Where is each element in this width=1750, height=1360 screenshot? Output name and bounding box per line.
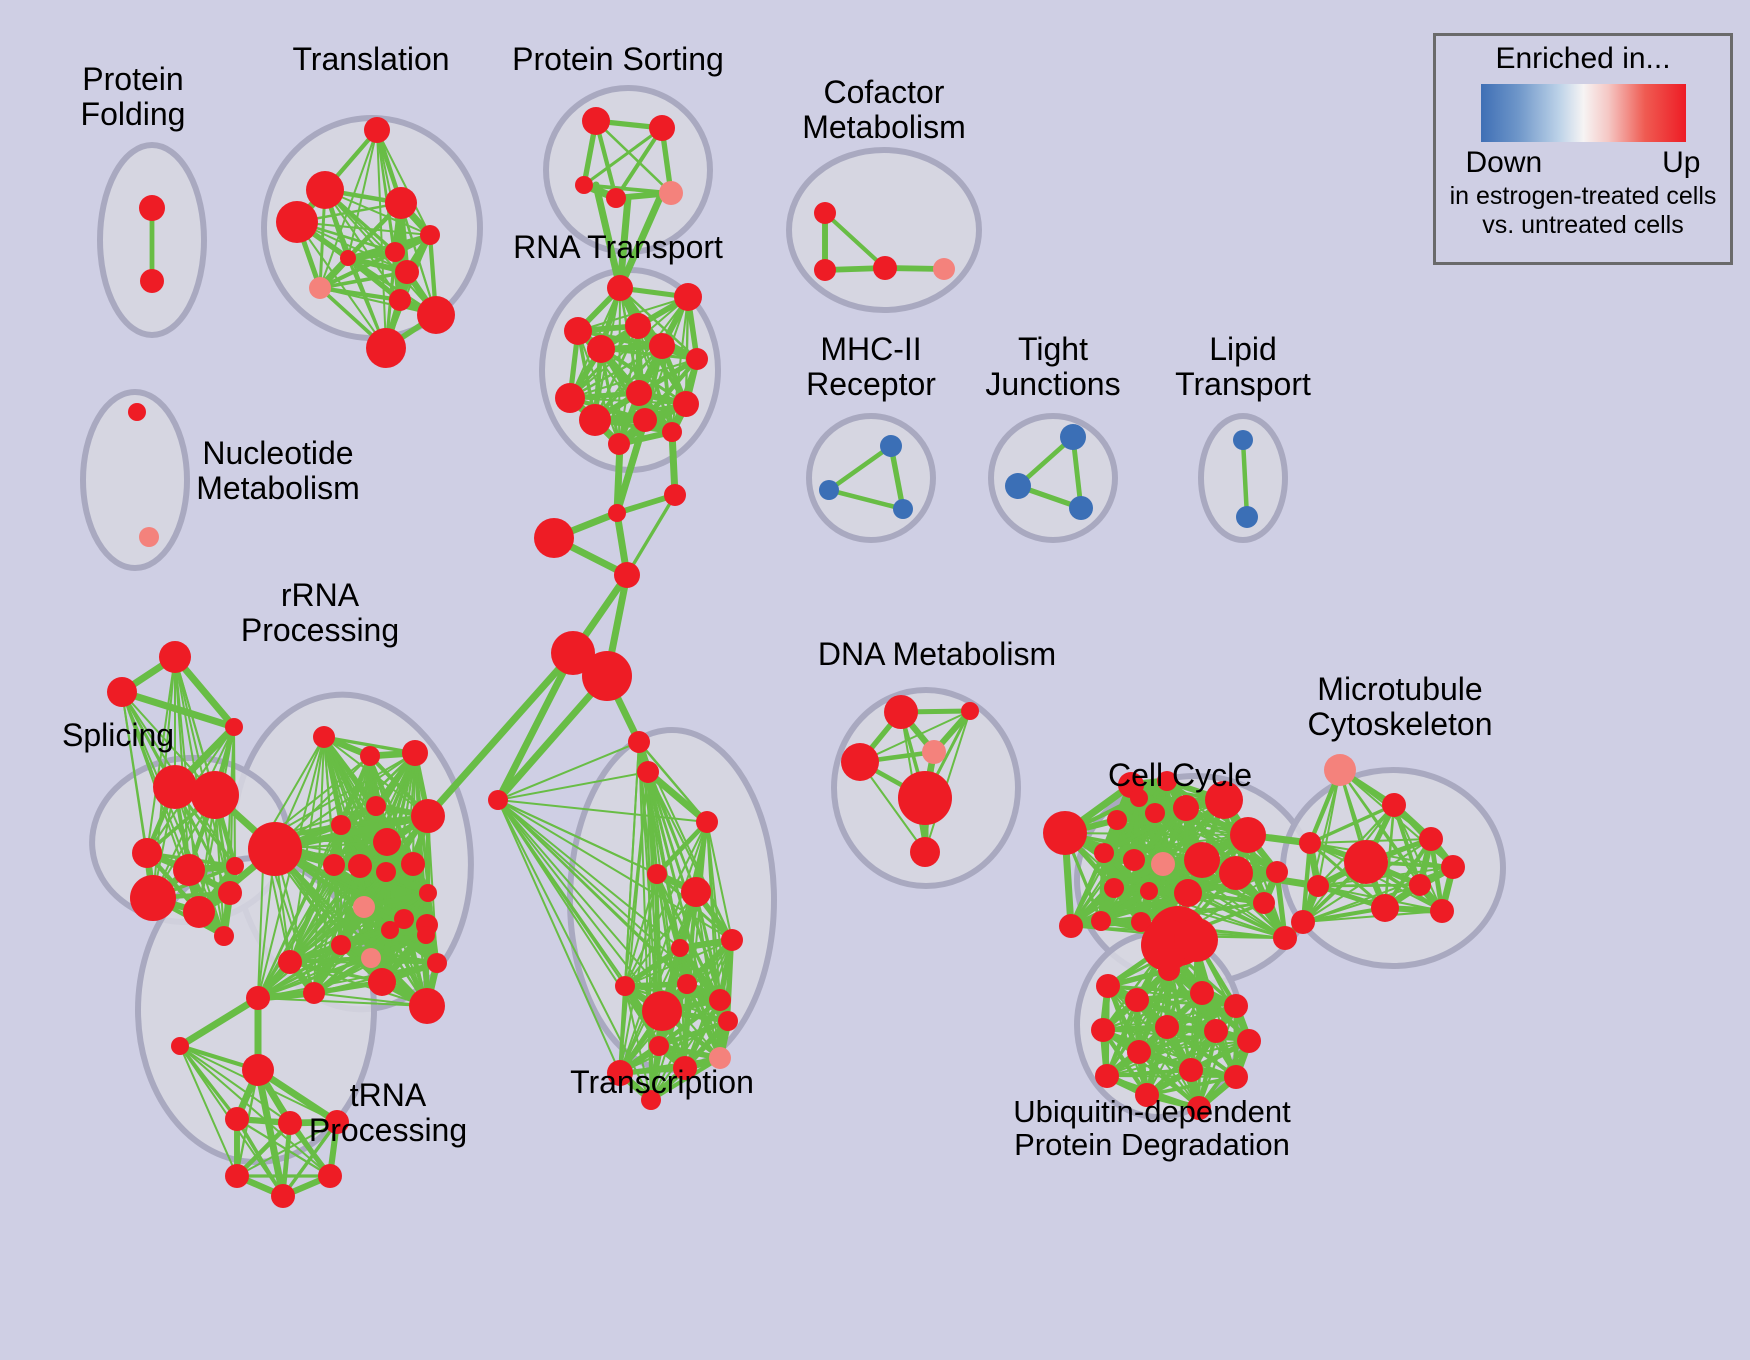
network-node[interactable] [159,641,191,673]
network-node[interactable] [922,740,946,764]
network-node[interactable] [130,875,176,921]
network-node[interactable] [615,976,635,996]
network-node[interactable] [420,225,440,245]
network-figure: Protein FoldingTranslationNucleotide Met… [0,0,1750,1360]
network-node[interactable] [385,187,417,219]
network-node[interactable] [140,269,164,293]
network-node[interactable] [1174,879,1202,907]
network-node[interactable] [555,383,585,413]
network-node[interactable] [225,1164,249,1188]
network-node[interactable] [681,877,711,907]
network-node[interactable] [306,171,344,209]
network-node[interactable] [366,328,406,368]
network-node[interactable] [173,854,205,886]
network-node[interactable] [607,275,633,301]
legend-subtitle-line1: in estrogen-treated cells [1450,182,1717,211]
network-node[interactable] [1005,473,1031,499]
network-node[interactable] [225,718,243,736]
network-node[interactable] [132,838,162,868]
network-node[interactable] [153,765,197,809]
network-node[interactable] [1174,918,1218,962]
cluster-label-protein_sorting: Protein Sorting [512,42,724,77]
network-node[interactable] [1204,1019,1228,1043]
network-node[interactable] [1091,911,1111,931]
network-node[interactable] [721,929,743,951]
legend-title: Enriched in... [1495,42,1670,76]
network-node[interactable] [1043,811,1087,855]
network-node[interactable] [625,313,651,339]
network-node[interactable] [364,117,390,143]
network-node[interactable] [961,702,979,720]
cluster-label-dna_metabolism: DNA Metabolism [818,637,1056,672]
cluster-label-rna_transport: RNA Transport [513,230,723,265]
network-node[interactable] [313,726,335,748]
network-node[interactable] [608,433,630,455]
network-node[interactable] [1190,981,1214,1005]
network-node[interactable] [1382,793,1406,817]
network-node[interactable] [579,404,611,436]
network-node[interactable] [1299,832,1321,854]
network-node[interactable] [1091,1018,1115,1042]
legend-down-label: Down [1466,146,1543,180]
network-node[interactable] [1419,827,1443,851]
network-node[interactable] [1173,795,1199,821]
network-node[interactable] [606,188,626,208]
network-node[interactable] [303,982,325,1004]
network-node[interactable] [709,989,731,1011]
network-node[interactable] [385,242,405,262]
cluster-label-tight_junctions: Tight Junctions [985,332,1120,401]
network-node[interactable] [488,790,508,810]
cluster-label-mhc_ii_receptor: MHC-II Receptor [806,332,936,401]
cluster-label-transcription: Transcription [570,1065,754,1100]
network-node[interactable] [608,504,626,522]
network-node[interactable] [671,939,689,957]
network-node[interactable] [373,828,401,856]
network-node[interactable] [637,761,659,783]
network-node[interactable] [1123,849,1145,871]
cluster-ellipse-cofactor_metabolism[interactable] [789,150,979,310]
network-node[interactable] [1125,988,1149,1012]
cluster-label-splicing: Splicing [62,718,174,753]
cluster-label-translation: Translation [292,42,449,77]
network-node[interactable] [898,771,952,825]
network-node[interactable] [614,562,640,588]
network-node[interactable] [628,731,650,753]
network-node[interactable] [1140,882,1158,900]
network-node[interactable] [841,743,879,781]
network-node[interactable] [1371,894,1399,922]
network-node[interactable] [873,256,897,280]
network-node[interactable] [1179,1058,1203,1082]
network-node[interactable] [564,317,592,345]
network-node[interactable] [183,896,215,928]
network-node[interactable] [171,1037,189,1055]
cluster-label-ubiquitin_protein_degradation: Ubiquitin-dependent Protein Degradation [1013,1095,1291,1162]
network-node[interactable] [1230,817,1266,853]
network-node[interactable] [323,854,345,876]
network-node[interactable] [381,921,399,939]
network-node[interactable] [427,953,447,973]
network-node[interactable] [814,259,836,281]
network-node[interactable] [582,651,632,701]
network-node[interactable] [1409,874,1431,896]
network-node[interactable] [910,837,940,867]
network-node[interactable] [389,289,411,311]
network-node[interactable] [664,484,686,506]
network-node[interactable] [1127,1040,1151,1064]
network-node[interactable] [218,881,242,905]
network-node[interactable] [674,283,702,311]
network-node[interactable] [647,864,667,884]
network-node[interactable] [1104,878,1124,898]
network-node[interactable] [139,527,159,547]
network-node[interactable] [626,380,652,406]
network-node[interactable] [696,811,718,833]
network-node[interactable] [128,403,146,421]
network-node[interactable] [361,948,381,968]
legend-up-label: Up [1662,146,1700,180]
cluster-label-trna_processing: tRNA Processing [309,1078,467,1147]
cluster-ellipse-mhc_ii_receptor[interactable] [809,416,933,540]
network-node[interactable] [246,986,270,1010]
network-node[interactable] [276,201,318,243]
network-node[interactable] [366,796,386,816]
network-node[interactable] [649,333,675,359]
network-node[interactable] [348,854,372,878]
cluster-label-nucleotide_metabolism: Nucleotide Metabolism [196,436,360,505]
network-node[interactable] [1430,899,1454,923]
legend-box: Enriched in... Down Up in estrogen-treat… [1433,33,1733,265]
network-node[interactable] [1060,424,1086,450]
legend-color-bar [1481,84,1686,142]
network-node[interactable] [139,195,165,221]
network-node[interactable] [1291,910,1315,934]
network-node[interactable] [107,677,137,707]
network-node[interactable] [225,1107,249,1131]
network-node[interactable] [226,857,244,875]
network-node[interactable] [1107,810,1127,830]
network-node[interactable] [368,968,396,996]
network-node[interactable] [1307,875,1329,897]
cluster-label-cofactor_metabolism: Cofactor Metabolism [802,75,966,144]
network-node[interactable] [649,115,675,141]
network-node[interactable] [353,896,375,918]
network-node[interactable] [933,258,955,280]
network-node[interactable] [1236,506,1258,528]
network-node[interactable] [1145,803,1165,823]
network-node[interactable] [633,408,657,432]
network-node[interactable] [376,862,396,882]
network-node[interactable] [401,852,425,876]
network-node[interactable] [1273,926,1297,950]
network-node[interactable] [1184,842,1220,878]
network-node[interactable] [248,822,302,876]
network-node[interactable] [419,884,437,902]
network-node[interactable] [360,746,380,766]
network-node[interactable] [214,926,234,946]
network-node[interactable] [819,480,839,500]
network-node[interactable] [575,176,593,194]
network-node[interactable] [659,181,683,205]
network-node[interactable] [642,991,682,1031]
network-node[interactable] [191,771,239,819]
network-node[interactable] [1324,754,1356,786]
network-node[interactable] [411,799,445,833]
network-node[interactable] [271,1184,295,1208]
cluster-label-cell_cycle: Cell Cycle [1108,758,1252,793]
network-node[interactable] [1219,856,1253,890]
network-node[interactable] [309,277,331,299]
edge [685,984,687,1068]
network-node[interactable] [331,815,351,835]
network-node[interactable] [1094,843,1114,863]
network-node[interactable] [1253,892,1275,914]
network-node[interactable] [649,1036,669,1056]
network-node[interactable] [1237,1029,1261,1053]
network-node[interactable] [1233,430,1253,450]
network-node[interactable] [587,335,615,363]
network-node[interactable] [884,695,918,729]
network-node[interactable] [331,935,351,955]
cluster-label-lipid_transport: Lipid Transport [1175,332,1311,401]
network-node[interactable] [1344,840,1388,884]
network-node[interactable] [534,518,574,558]
network-node[interactable] [1224,994,1248,1018]
network-node[interactable] [395,260,419,284]
network-node[interactable] [582,107,610,135]
network-node[interactable] [1095,1064,1119,1088]
network-node[interactable] [318,1164,342,1188]
network-node[interactable] [1224,1065,1248,1089]
cluster-label-protein_folding: Protein Folding [81,62,186,131]
network-node[interactable] [1096,974,1120,998]
network-node[interactable] [1266,861,1288,883]
cluster-label-rrna_processing: rRNA Processing [241,578,399,647]
network-node[interactable] [718,1011,738,1031]
network-node[interactable] [402,740,428,766]
network-node[interactable] [880,435,902,457]
network-node[interactable] [893,499,913,519]
network-node[interactable] [1059,914,1083,938]
network-node[interactable] [417,296,455,334]
network-node[interactable] [1441,855,1465,879]
cluster-label-microtubule_cytoskeleton: Microtubule Cytoskeleton [1308,672,1493,741]
network-node[interactable] [686,348,708,370]
network-node[interactable] [1151,852,1175,876]
network-node[interactable] [278,950,302,974]
network-node[interactable] [1069,496,1093,520]
network-node[interactable] [409,988,445,1024]
network-node[interactable] [1155,1015,1179,1039]
network-node[interactable] [814,202,836,224]
network-node[interactable] [417,926,435,944]
network-node[interactable] [677,974,697,994]
network-node[interactable] [673,391,699,417]
network-node[interactable] [662,422,682,442]
network-node[interactable] [278,1111,302,1135]
network-node[interactable] [340,250,356,266]
legend-subtitle-line2: vs. untreated cells [1450,211,1717,240]
network-node[interactable] [242,1054,274,1086]
